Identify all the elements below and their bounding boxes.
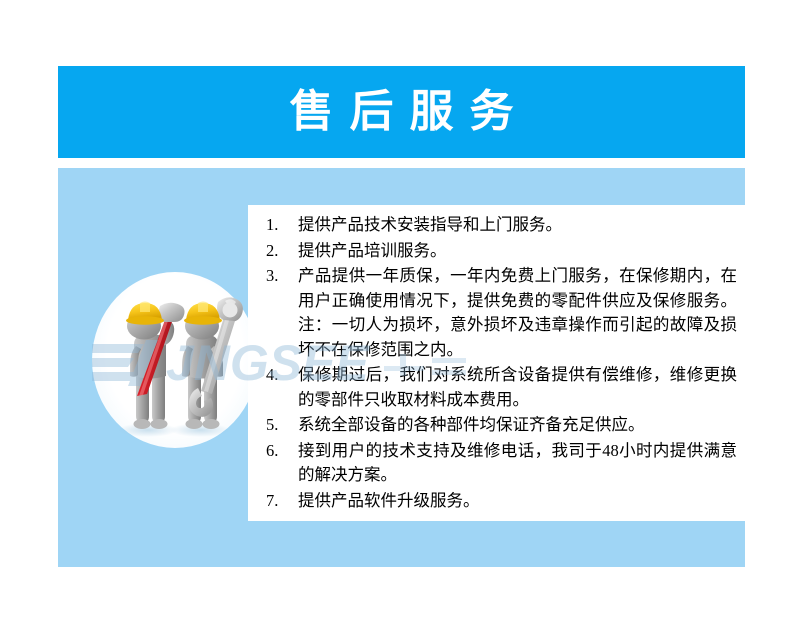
list-item-text: 提供产品培训服务。: [298, 241, 447, 260]
list-item-number: 1.: [266, 213, 292, 238]
two-workers-with-tools-icon: [92, 272, 258, 448]
list-item-number: 2.: [266, 239, 292, 264]
list-item-text: 提供产品技术安装指导和上门服务。: [298, 215, 562, 234]
list-item: 4. 保修期过后，我们对系统所含设备提供有偿维修，维修更换的零部件只收取材料成本…: [264, 363, 737, 412]
worker-with-hammer: [126, 302, 185, 430]
list-item: 6. 接到用户的技术支持及维修电话，我司于48小时内提供满意的解决方案。: [264, 439, 737, 488]
list-item-number: 7.: [266, 489, 292, 514]
list-item-text: 接到用户的技术支持及维修电话，我司于48小时内提供满意的解决方案。: [298, 441, 737, 485]
service-list: 1. 提供产品技术安装指导和上门服务。 2. 提供产品培训服务。 3. 产品提供…: [264, 213, 737, 514]
list-item: 2. 提供产品培训服务。: [264, 239, 737, 264]
page-title: 售后服务: [274, 90, 530, 134]
list-item-number: 6.: [266, 439, 292, 464]
slide-root: 售后服务: [0, 0, 803, 639]
list-item-text: 保修期过后，我们对系统所含设备提供有偿维修，维修更换的零部件只收取材料成本费用。: [298, 365, 737, 409]
list-item-text: 系统全部设备的各种部件均保证齐备充足供应。: [298, 415, 645, 434]
list-item: 5. 系统全部设备的各种部件均保证齐备充足供应。: [264, 413, 737, 438]
illustration-container: [92, 272, 258, 448]
list-item-number: 3.: [266, 264, 292, 289]
worker-with-wrench: [182, 297, 243, 429]
list-item: 7. 提供产品软件升级服务。: [264, 489, 737, 514]
list-item-text: 提供产品软件升级服务。: [298, 491, 480, 510]
list-item: 3. 产品提供一年质保，一年内免费上门服务，在保修期内，在用户正确使用情况下，提…: [264, 264, 737, 362]
header-banner: 售后服务: [58, 66, 745, 158]
list-item-number: 4.: [266, 363, 292, 388]
list-item-text: 产品提供一年质保，一年内免费上门服务，在保修期内，在用户正确使用情况下，提供免费…: [298, 266, 737, 359]
content-card: 1. 提供产品技术安装指导和上门服务。 2. 提供产品培训服务。 3. 产品提供…: [248, 205, 745, 521]
list-item-number: 5.: [266, 413, 292, 438]
list-item: 1. 提供产品技术安装指导和上门服务。: [264, 213, 737, 238]
